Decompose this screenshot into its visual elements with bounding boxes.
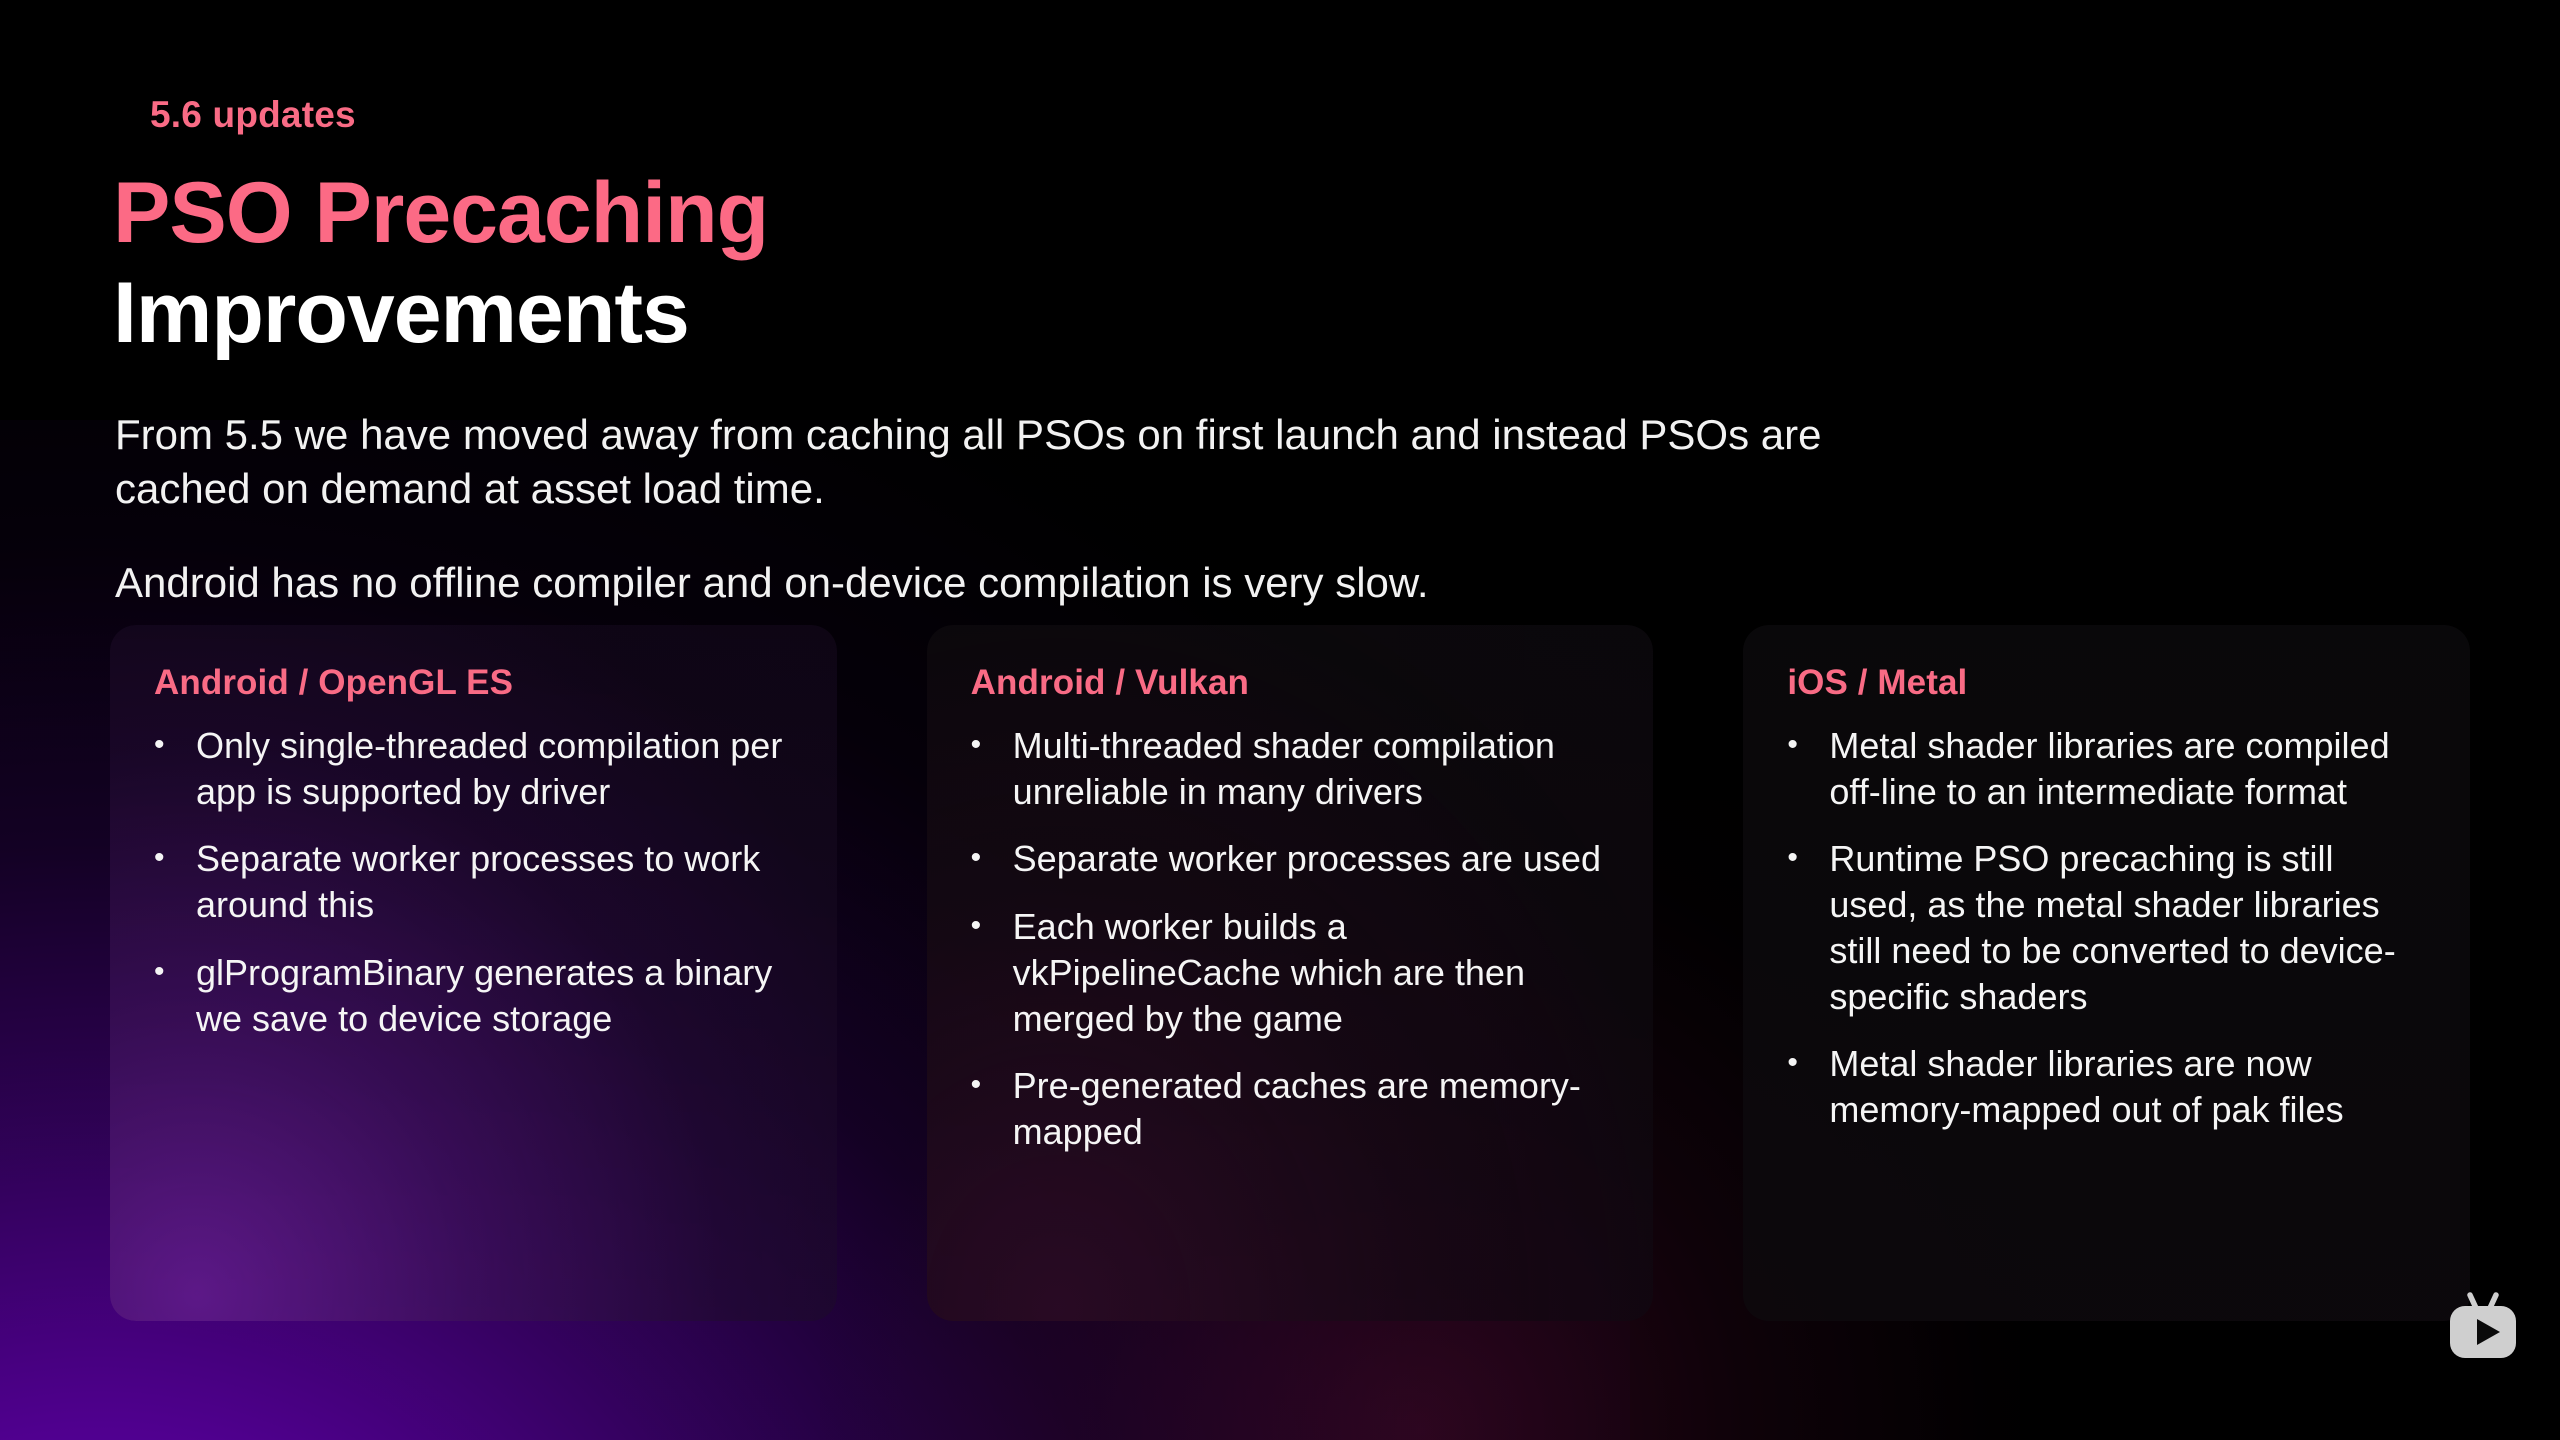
list-item: • Pre-generated caches are memory-mapped (971, 1063, 1610, 1154)
bullet-text: Runtime PSO precaching is still used, as… (1829, 836, 2426, 1019)
bullet-list-android-opengl-es: • Only single-threaded compilation per a… (154, 723, 793, 1041)
bullet-list-ios-metal: • Metal shader libraries are compiled of… (1787, 723, 2426, 1133)
bullet-text: Pre-generated caches are memory-mapped (1013, 1063, 1610, 1154)
bullet-dot-icon: • (154, 950, 196, 1041)
bullet-text: Multi-threaded shader compilation unreli… (1013, 723, 1610, 814)
page-title: PSO Precaching Improvements (113, 170, 768, 356)
card-android-vulkan: Android / Vulkan • Multi-threaded shader… (927, 625, 1654, 1321)
intro-paragraph-1: From 5.5 we have moved away from caching… (115, 408, 1945, 516)
bullet-text: Separate worker processes to work around… (196, 836, 793, 927)
bullet-dot-icon: • (971, 904, 1013, 1041)
list-item: • Separate worker processes to work arou… (154, 836, 793, 927)
bullet-text: glProgramBinary generates a binary we sa… (196, 950, 793, 1041)
card-title-ios-metal: iOS / Metal (1787, 663, 2426, 703)
eyebrow-label: 5.6 updates (150, 94, 356, 136)
bullet-text: Separate worker processes are used (1013, 836, 1610, 882)
card-title-android-vulkan: Android / Vulkan (971, 663, 1610, 703)
list-item: • Runtime PSO precaching is still used, … (1787, 836, 2426, 1019)
list-item: • Multi-threaded shader compilation unre… (971, 723, 1610, 814)
intro-text-block: From 5.5 we have moved away from caching… (115, 408, 1945, 609)
bullet-text: Metal shader libraries are compiled off-… (1829, 723, 2426, 814)
bullet-dot-icon: • (971, 723, 1013, 814)
bullet-text: Only single-threaded compilation per app… (196, 723, 793, 814)
card-title-android-opengl-es: Android / OpenGL ES (154, 663, 793, 703)
bullet-dot-icon: • (154, 723, 196, 814)
list-item: • Only single-threaded compilation per a… (154, 723, 793, 814)
bullet-list-android-vulkan: • Multi-threaded shader compilation unre… (971, 723, 1610, 1155)
bullet-text: Each worker builds a vkPipelineCache whi… (1013, 904, 1610, 1041)
bullet-text: Metal shader libraries are now memory-ma… (1829, 1041, 2426, 1132)
list-item: • Metal shader libraries are now memory-… (1787, 1041, 2426, 1132)
bullet-dot-icon: • (1787, 836, 1829, 1019)
slide-root: 5.6 updates PSO Precaching Improvements … (0, 0, 2560, 1440)
platform-cards-row: Android / OpenGL ES • Only single-thread… (110, 625, 2470, 1321)
intro-paragraph-2: Android has no offline compiler and on-d… (115, 556, 1945, 610)
page-title-line-2: Improvements (113, 270, 768, 356)
card-ios-metal: iOS / Metal • Metal shader libraries are… (1743, 625, 2470, 1321)
list-item: • Metal shader libraries are compiled of… (1787, 723, 2426, 814)
bullet-dot-icon: • (971, 836, 1013, 882)
card-android-opengl-es: Android / OpenGL ES • Only single-thread… (110, 625, 837, 1321)
bullet-dot-icon: • (1787, 1041, 1829, 1132)
list-item: • Separate worker processes are used (971, 836, 1610, 882)
tv-play-icon (2444, 1292, 2522, 1362)
page-title-line-1: PSO Precaching (113, 170, 768, 256)
list-item: • Each worker builds a vkPipelineCache w… (971, 904, 1610, 1041)
bullet-dot-icon: • (1787, 723, 1829, 814)
bullet-dot-icon: • (971, 1063, 1013, 1154)
list-item: • glProgramBinary generates a binary we … (154, 950, 793, 1041)
bullet-dot-icon: • (154, 836, 196, 927)
